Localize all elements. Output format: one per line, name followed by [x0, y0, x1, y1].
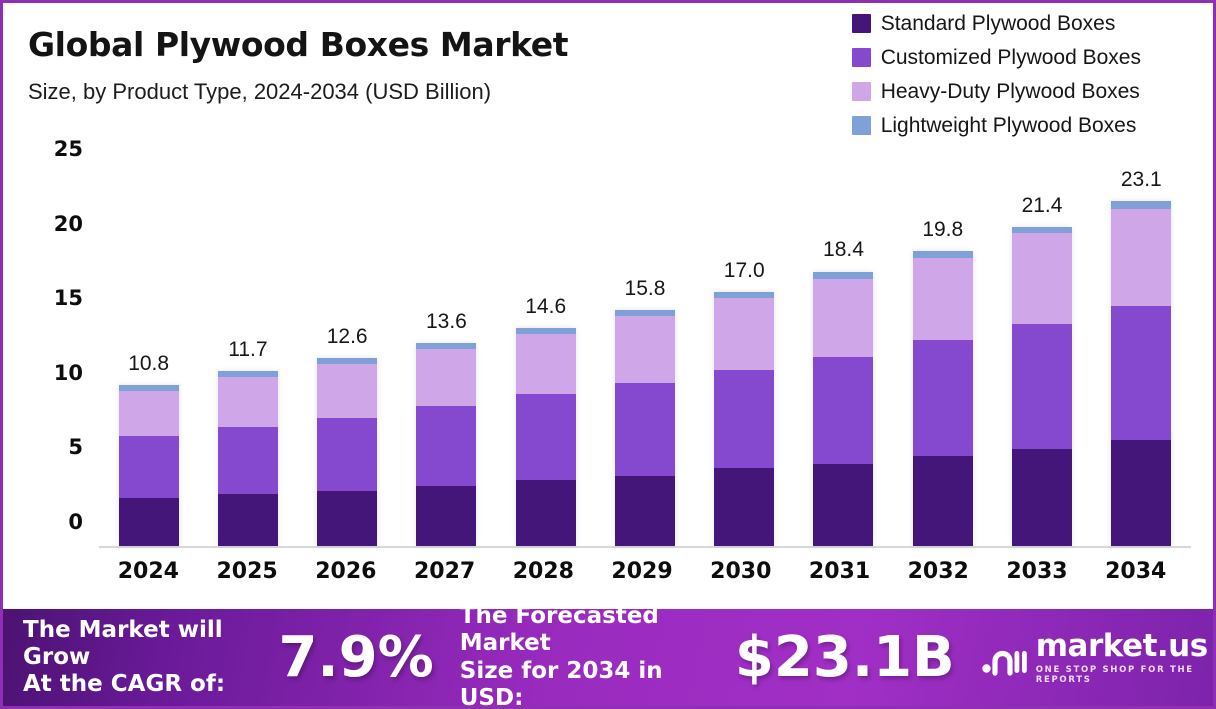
brand-logo[interactable]: market.us ONE STOP SHOP FOR THE REPORTS	[981, 631, 1213, 685]
bar-segment[interactable]	[119, 498, 179, 546]
cagr-label-line2: At the CAGR of:	[23, 671, 256, 698]
bar-group: 10.811.712.613.614.615.817.018.419.821.4…	[99, 173, 1191, 546]
infographic-card: Global Plywood Boxes Market Size, by Pro…	[0, 0, 1216, 709]
legend-swatch	[852, 48, 871, 67]
bar-total-label: 17.0	[695, 259, 794, 283]
bar-total-label: 14.6	[496, 295, 595, 319]
y-axis-tick-label: 0	[68, 510, 99, 534]
x-axis-labels: 2024202520262027202820292030203120322033…	[99, 559, 1185, 584]
bar-segment[interactable]	[913, 251, 973, 258]
stacked-bar[interactable]	[317, 358, 377, 546]
x-axis-label: 2033	[988, 559, 1087, 584]
stacked-bar[interactable]	[615, 310, 675, 546]
bar-segment[interactable]	[218, 494, 278, 546]
stacked-bar[interactable]	[416, 343, 476, 546]
bar-segment[interactable]	[516, 334, 576, 394]
bar-segment[interactable]	[317, 364, 377, 418]
logo-tagline: ONE STOP SHOP FOR THE REPORTS	[1036, 665, 1213, 685]
bar-slot[interactable]: 10.8	[99, 173, 198, 546]
bar-slot[interactable]: 21.4	[992, 173, 1091, 546]
legend-item-label: Heavy-Duty Plywood Boxes	[881, 80, 1140, 104]
y-axis-tick-label: 20	[54, 212, 99, 236]
bar-slot[interactable]: 14.6	[496, 173, 595, 546]
legend-item-label: Customized Plywood Boxes	[881, 46, 1141, 70]
bar-total-label: 15.8	[595, 277, 694, 301]
stacked-bar[interactable]	[119, 385, 179, 546]
bar-segment[interactable]	[1111, 201, 1171, 208]
legend-swatch	[852, 14, 871, 33]
bar-segment[interactable]	[714, 298, 774, 370]
x-axis-label: 2027	[395, 559, 494, 584]
cagr-value: 7.9%	[278, 625, 433, 690]
bar-segment[interactable]	[714, 468, 774, 546]
bar-total-label: 23.1	[1092, 168, 1191, 192]
bar-total-label: 10.8	[99, 352, 198, 376]
stacked-bar[interactable]	[714, 292, 774, 546]
bar-segment[interactable]	[1012, 449, 1072, 546]
stacked-bar[interactable]	[218, 371, 278, 546]
x-axis-label: 2032	[889, 559, 988, 584]
x-axis-label: 2028	[494, 559, 593, 584]
bar-total-label: 19.8	[893, 218, 992, 242]
forecast-label: The Forecasted Market Size for 2034 in U…	[460, 603, 713, 709]
legend-swatch	[852, 116, 871, 135]
bar-segment[interactable]	[119, 436, 179, 499]
bar-total-label: 21.4	[992, 194, 1091, 218]
legend-item[interactable]: Lightweight Plywood Boxes	[852, 111, 1141, 140]
cagr-label: The Market will Grow At the CAGR of:	[23, 617, 256, 698]
axis-baseline	[99, 546, 1191, 548]
stacked-bar[interactable]	[913, 251, 973, 546]
legend-item[interactable]: Customized Plywood Boxes	[852, 43, 1141, 72]
chart-plot-area: 10.811.712.613.614.615.817.018.419.821.4…	[99, 173, 1191, 548]
legend-item[interactable]: Standard Plywood Boxes	[852, 9, 1141, 38]
stacked-bar[interactable]	[813, 272, 873, 547]
bar-segment[interactable]	[813, 357, 873, 464]
chart-legend: Standard Plywood BoxesCustomized Plywood…	[852, 9, 1141, 140]
bar-total-label: 11.7	[198, 338, 297, 362]
legend-item[interactable]: Heavy-Duty Plywood Boxes	[852, 77, 1141, 106]
x-axis-label: 2029	[593, 559, 692, 584]
bar-segment[interactable]	[516, 394, 576, 481]
bar-slot[interactable]: 17.0	[695, 173, 794, 546]
bar-segment[interactable]	[615, 476, 675, 546]
bar-segment[interactable]	[813, 464, 873, 546]
logo-text-block: market.us ONE STOP SHOP FOR THE REPORTS	[1036, 631, 1213, 685]
bar-slot[interactable]: 11.7	[198, 173, 297, 546]
x-axis-label: 2026	[296, 559, 395, 584]
bar-slot[interactable]: 18.4	[794, 173, 893, 546]
logo-name: market.us	[1036, 631, 1213, 662]
stacked-bar[interactable]	[1111, 201, 1171, 546]
legend-item-label: Lightweight Plywood Boxes	[881, 114, 1137, 138]
bar-segment[interactable]	[714, 370, 774, 468]
bar-segment[interactable]	[813, 279, 873, 357]
x-axis-label: 2030	[691, 559, 790, 584]
market-us-logo-icon	[981, 639, 1027, 677]
bar-segment[interactable]	[1111, 440, 1171, 546]
y-axis-tick-label: 5	[68, 435, 99, 459]
forecast-value: $23.1B	[735, 625, 955, 690]
bar-segment[interactable]	[913, 258, 973, 340]
bar-slot[interactable]: 13.6	[397, 173, 496, 546]
bar-total-label: 18.4	[794, 238, 893, 262]
bar-segment[interactable]	[218, 377, 278, 426]
legend-swatch	[852, 82, 871, 101]
forecast-label-line1: The Forecasted Market	[460, 603, 713, 657]
x-axis-label: 2025	[198, 559, 297, 584]
page-title: Global Plywood Boxes Market	[28, 25, 568, 64]
bar-segment[interactable]	[317, 418, 377, 491]
y-axis-tick-label: 15	[54, 286, 99, 310]
bar-segment[interactable]	[218, 427, 278, 494]
bar-segment[interactable]	[416, 406, 476, 487]
bar-total-label: 12.6	[298, 325, 397, 349]
bar-segment[interactable]	[1111, 209, 1171, 306]
bar-segment[interactable]	[119, 391, 179, 436]
bar-segment[interactable]	[813, 272, 873, 279]
bar-segment[interactable]	[1012, 233, 1072, 324]
bar-segment[interactable]	[913, 340, 973, 456]
bar-segment[interactable]	[516, 480, 576, 546]
forecast-label-line2: Size for 2034 in USD:	[460, 658, 713, 709]
y-axis-tick-label: 10	[54, 361, 99, 385]
bar-segment[interactable]	[1111, 306, 1171, 440]
bar-segment[interactable]	[416, 486, 476, 546]
bar-slot[interactable]: 19.8	[893, 173, 992, 546]
cagr-label-line1: The Market will Grow	[23, 617, 256, 671]
bar-total-label: 13.6	[397, 310, 496, 334]
stacked-bar[interactable]	[516, 328, 576, 546]
bar-segment[interactable]	[416, 349, 476, 406]
x-axis-label: 2024	[99, 559, 198, 584]
bar-segment[interactable]	[913, 456, 973, 546]
bar-slot[interactable]: 12.6	[298, 173, 397, 546]
stacked-bar[interactable]	[1012, 227, 1072, 546]
bar-segment[interactable]	[615, 383, 675, 476]
bar-segment[interactable]	[1012, 324, 1072, 449]
bar-slot[interactable]: 15.8	[595, 173, 694, 546]
legend-item-label: Standard Plywood Boxes	[881, 12, 1116, 36]
footer-banner: The Market will Grow At the CAGR of: 7.9…	[3, 609, 1213, 706]
y-axis-tick-label: 25	[54, 137, 99, 161]
x-axis-label: 2034	[1086, 559, 1185, 584]
bar-segment[interactable]	[615, 316, 675, 383]
bar-slot[interactable]: 23.1	[1092, 173, 1191, 546]
page-subtitle: Size, by Product Type, 2024-2034 (USD Bi…	[28, 79, 491, 105]
bar-segment[interactable]	[317, 491, 377, 546]
x-axis-label: 2031	[790, 559, 889, 584]
